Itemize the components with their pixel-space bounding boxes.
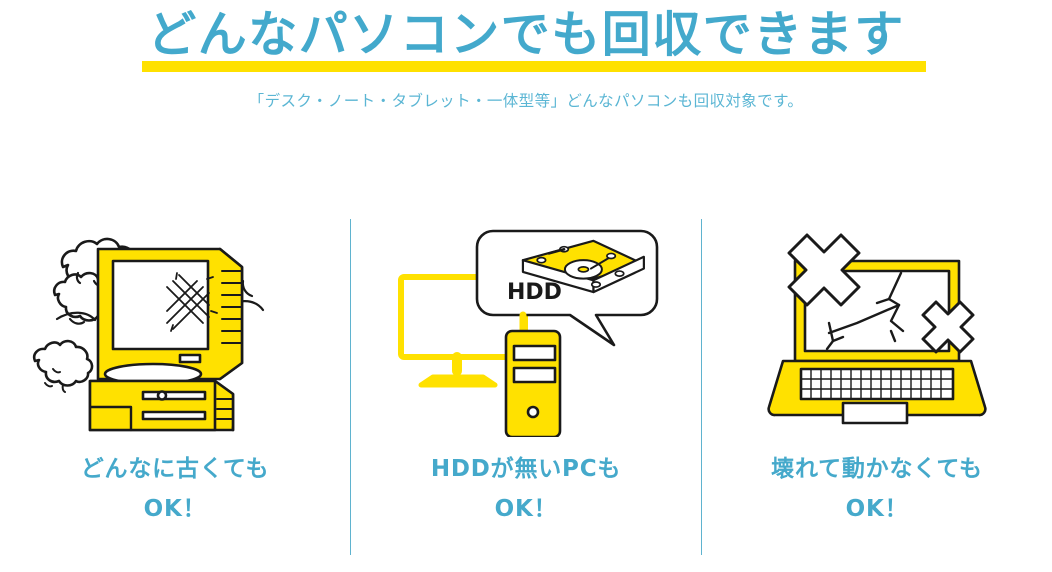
feature-column-no-hdd: HDD	[351, 219, 701, 555]
broken-laptop-with-cracked-screen-icon	[743, 219, 1011, 437]
page-header: どんなパソコンでも回収できます 「デスク・ノート・タブレット・一体型等」どんなパ…	[0, 0, 1052, 130]
caption-line-1: HDDが無いPCも	[431, 456, 621, 482]
caption-broken-pc: 壊れて動かなくても OK！	[771, 449, 983, 529]
old-crt-desktop-computer-with-dust-icon	[25, 219, 325, 437]
caption-line-2: OK！	[81, 489, 270, 529]
desktop-tower-with-hdd-callout-icon: HDD	[389, 219, 664, 437]
feature-columns: どんなに古くても OK！ HDD	[0, 219, 1052, 555]
feature-column-old-pc: どんなに古くても OK！	[0, 219, 350, 555]
page-title: どんなパソコンでも回収できます	[147, 4, 905, 66]
caption-old-pc: どんなに古くても OK！	[81, 449, 270, 529]
caption-no-hdd: HDDが無いPCも OK！	[431, 449, 621, 529]
caption-line-2: OK！	[431, 489, 621, 529]
page-subtitle: 「デスク・ノート・タブレット・一体型等」どんなパソコンも回収対象です。	[0, 88, 1052, 114]
caption-line-1: 壊れて動かなくても	[771, 456, 983, 482]
caption-line-2: OK！	[771, 489, 983, 529]
title-wrapper: どんなパソコンでも回収できます	[0, 4, 1052, 66]
feature-column-broken-pc: 壊れて動かなくても OK！	[702, 219, 1052, 555]
hdd-callout-label: HDD	[507, 280, 562, 305]
caption-line-1: どんなに古くても	[81, 456, 270, 482]
